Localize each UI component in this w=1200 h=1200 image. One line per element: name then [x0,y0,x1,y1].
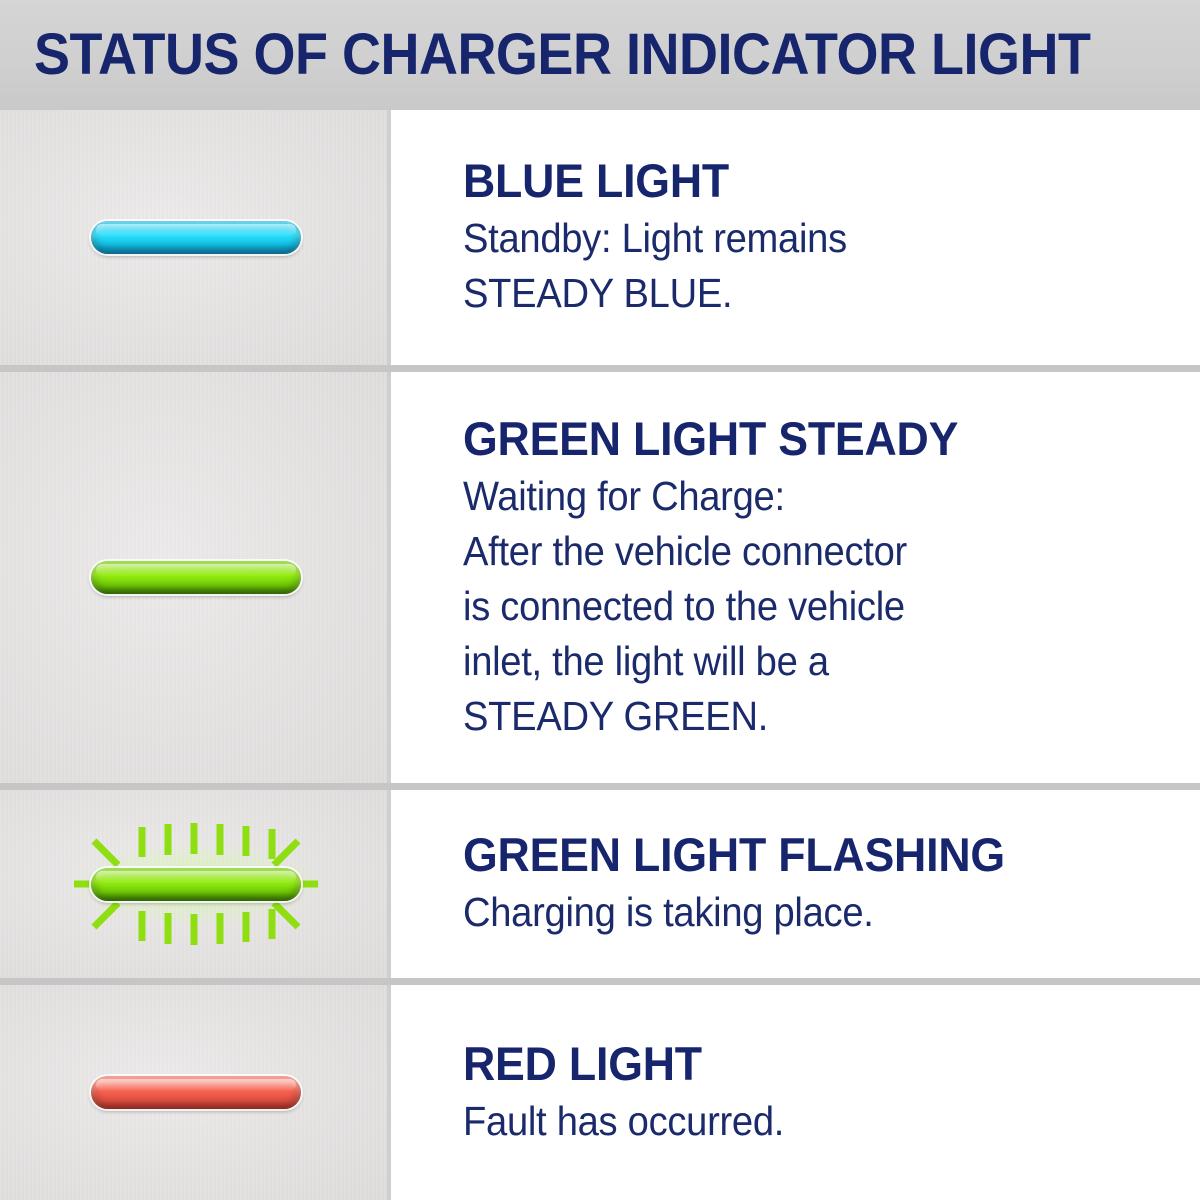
body-line: Standby: Light remains [463,211,1121,266]
status-table: BLUE LIGHT Standby: Light remains STEADY… [0,110,1200,1200]
table-row: GREEN LIGHT FLASHING Charging is taking … [0,790,1200,978]
indicator-cell [0,372,391,783]
row-body: Standby: Light remains STEADY BLUE. [463,211,1121,321]
indicator-cell [0,110,391,365]
red-indicator-light-icon [68,1018,324,1168]
row-body: Fault has occurred. [463,1094,1121,1149]
row-body: Waiting for Charge: After the vehicle co… [463,469,1121,744]
body-line: Waiting for Charge: [463,469,1121,524]
description-cell: GREEN LIGHT STEADY Waiting for Charge: A… [391,372,1200,783]
body-line: Charging is taking place. [463,885,1121,940]
light-pill [91,1076,301,1109]
page-title: STATUS OF CHARGER INDICATOR LIGHT [34,26,1090,84]
light-pill [91,868,301,901]
body-line: inlet, the light will be a [463,634,1121,689]
green-indicator-light-flashing-icon [68,809,324,959]
body-line: is connected to the vehicle [463,579,1121,634]
row-heading: GREEN LIGHT FLASHING [463,828,1135,882]
indicator-cell [0,790,391,978]
indicator-cell [0,985,391,1200]
row-heading: RED LIGHT [463,1037,1135,1091]
description-cell: GREEN LIGHT FLASHING Charging is taking … [391,790,1200,978]
charger-indicator-status-sheet: STATUS OF CHARGER INDICATOR LIGHT BLUE L… [0,0,1200,1200]
body-line: STEADY GREEN. [463,689,1121,744]
row-body: Charging is taking place. [463,885,1121,940]
blue-indicator-light-icon [68,163,324,313]
row-heading: BLUE LIGHT [463,154,1135,208]
green-indicator-light-icon [68,503,324,653]
body-line: After the vehicle connector [463,524,1121,579]
body-line: STEADY BLUE. [463,266,1121,321]
light-pill [91,221,301,254]
table-row: BLUE LIGHT Standby: Light remains STEADY… [0,110,1200,365]
description-cell: BLUE LIGHT Standby: Light remains STEADY… [391,110,1200,365]
page-header: STATUS OF CHARGER INDICATOR LIGHT [0,0,1200,110]
table-row: RED LIGHT Fault has occurred. [0,985,1200,1200]
table-row: GREEN LIGHT STEADY Waiting for Charge: A… [0,372,1200,783]
row-heading: GREEN LIGHT STEADY [463,412,1135,466]
body-line: Fault has occurred. [463,1094,1121,1149]
description-cell: RED LIGHT Fault has occurred. [391,985,1200,1200]
light-pill [91,561,301,594]
